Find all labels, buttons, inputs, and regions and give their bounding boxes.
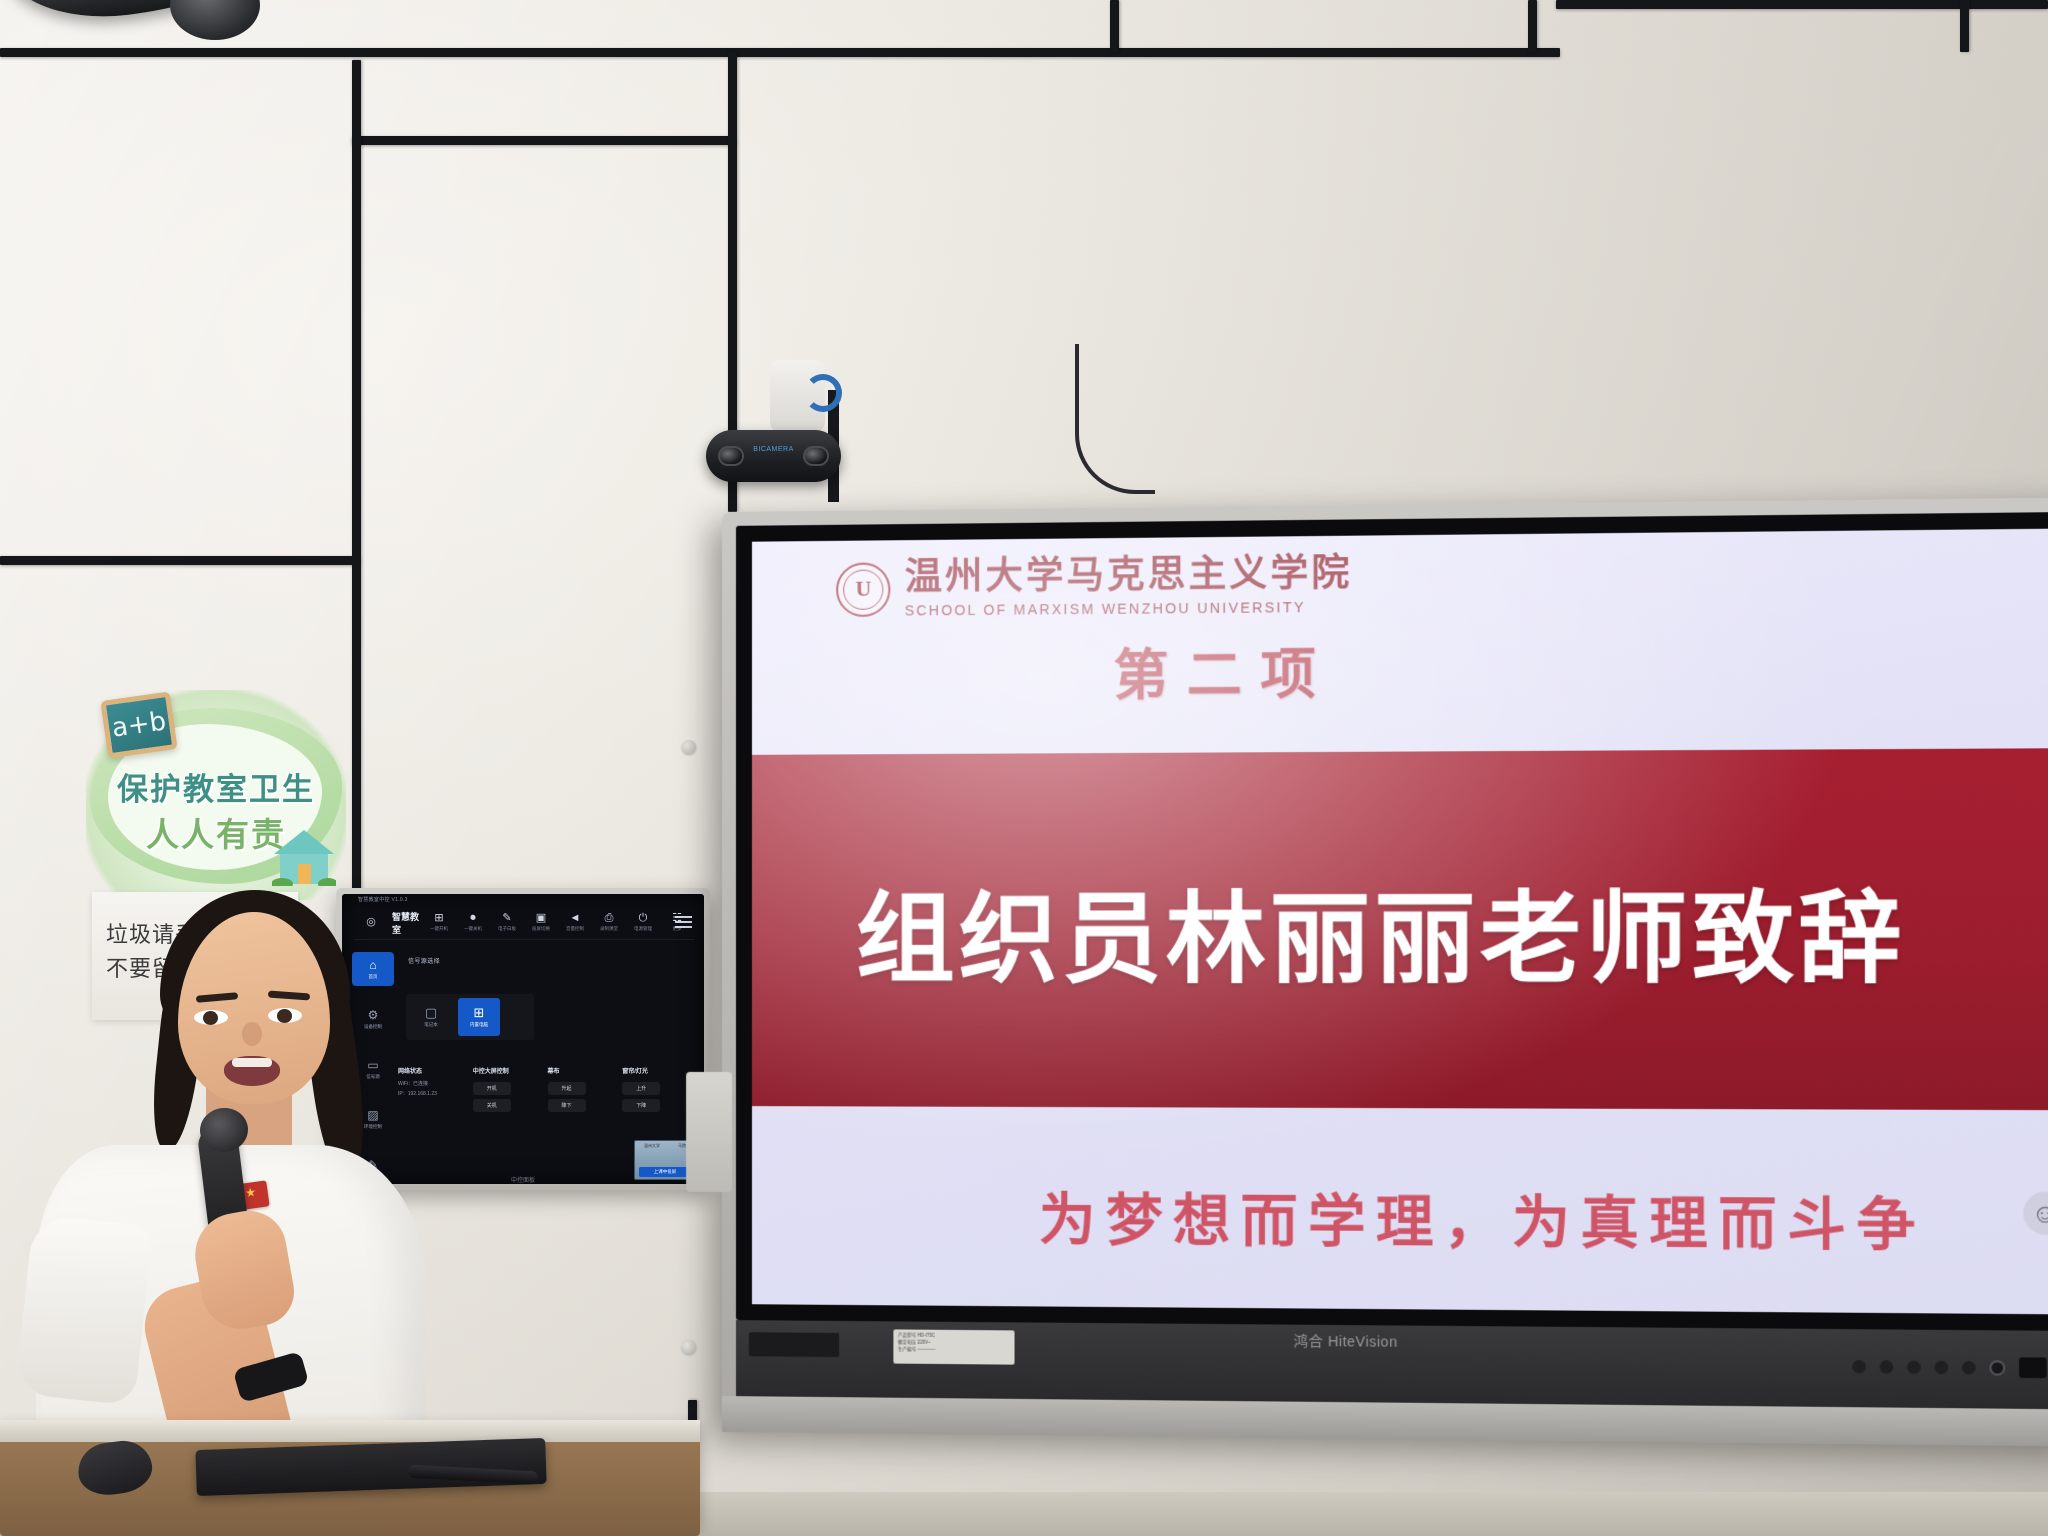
volume-icon: ◄	[570, 913, 581, 924]
windows-icon: ⊞	[474, 1006, 485, 1019]
slide-title: 组织员林丽丽老师致辞	[856, 856, 2048, 1003]
seal-letter: U	[838, 576, 888, 603]
wall-poster: a+b 保护教室卫生 人人有责	[86, 690, 346, 900]
toolbar-item-label: 电子白板	[498, 926, 516, 932]
toolbar-item[interactable]: ▣ 投屏切换	[524, 913, 558, 932]
power-off-icon: ⏺	[470, 913, 476, 924]
presentation-slide[interactable]: U 温州大学马克思主义学院 SCHOOL OF MARXISM WENZHOU …	[752, 528, 2048, 1314]
curtain-up-button[interactable]: 上升	[622, 1082, 660, 1095]
toolbar-item-label: 音量控制	[566, 926, 584, 932]
wall-batten-horizontal	[0, 48, 1560, 57]
wall-screw	[682, 740, 696, 754]
thumbnail-top-right-label: 马院	[678, 1143, 686, 1149]
screen-cast-icon: ▣	[536, 913, 546, 924]
display-power-on-button[interactable]: 开机	[473, 1082, 511, 1095]
wall-mount-bracket	[686, 1072, 732, 1192]
school-logo: U 温州大学马克思主义学院 SCHOOL OF MARXISM WENZHOU …	[836, 555, 1352, 619]
toolbar-item-label: 录制课堂	[600, 926, 618, 932]
key-menu[interactable]	[1852, 1359, 1866, 1372]
university-seal-icon: U	[836, 562, 890, 617]
power-manage-icon: ⏻	[639, 913, 648, 924]
eye-left	[194, 1010, 228, 1025]
key-volume-down[interactable]	[1907, 1360, 1921, 1373]
logo-text-block: 温州大学马克思主义学院 SCHOOL OF MARXISM WENZHOU UN…	[905, 555, 1353, 618]
tile-label: 内置电脑	[470, 1022, 488, 1028]
logo-chinese-name: 温州大学马克思主义学院	[905, 555, 1353, 598]
camera-brand-label: BICAMERA	[706, 446, 841, 453]
toolbar-item-label: 投屏切换	[532, 926, 550, 932]
chalkboard-icon: a+b	[100, 691, 177, 758]
hamburger-menu-icon[interactable]	[675, 916, 692, 928]
sticker-line-3: 生产编号 ————	[898, 1346, 1011, 1354]
slide-red-band: 组织员林丽丽老师致辞	[752, 748, 2048, 1110]
toolbar-item-label: 电源管理	[634, 926, 652, 932]
poster-line-1: 保护教室卫生	[86, 764, 346, 809]
slide-kicker-text: 第二项	[752, 624, 1896, 713]
toolbar-item-label: 一键关机	[464, 926, 482, 932]
thumbnail-top-left-label: 温州大学	[644, 1143, 660, 1149]
mouth	[224, 1056, 280, 1086]
toolbar-item[interactable]: ◄ 音量控制	[558, 913, 592, 932]
control-group-display: 中控大屏控制 开机 关机	[473, 1066, 545, 1170]
group-heading: 窗帘/灯光	[622, 1066, 694, 1075]
logo-english-name: SCHOOL OF MARXISM WENZHOU UNIVERSITY	[905, 599, 1353, 619]
ir-receiver-icon	[2019, 1357, 2047, 1378]
eye-right	[268, 1008, 302, 1023]
group-heading: 幕布	[548, 1066, 620, 1075]
slide-bottom-band: 为梦想而学理，为真理而斗争 ☺	[752, 1106, 2048, 1315]
display-bezel: U 温州大学马克思主义学院 SCHOOL OF MARXISM WENZHOU …	[736, 512, 2048, 1331]
lectern-top-surface	[0, 1420, 700, 1442]
control-group-screen: 幕布 升起 降下	[548, 1066, 620, 1170]
display-ports[interactable]	[749, 1332, 839, 1357]
slide-slogan: 为梦想而学理，为真理而斗争	[1039, 1175, 2048, 1266]
wall-batten-vertical	[1110, 0, 1119, 52]
wall-batten-horizontal	[1556, 0, 2048, 9]
curtain-down-button[interactable]: 下降	[622, 1099, 660, 1112]
display-power-off-button[interactable]: 关机	[473, 1099, 511, 1112]
record-icon: ⎙	[605, 913, 614, 924]
screen-lower-button[interactable]: 降下	[548, 1099, 586, 1112]
nose	[242, 1022, 262, 1046]
display-brand-label: 鸿合 HiteVision	[1294, 1331, 1398, 1352]
toolbar-item[interactable]: ⏺ 一键关机	[456, 913, 490, 932]
house-icon	[272, 828, 336, 886]
wall-batten-horizontal	[352, 136, 736, 145]
power-button[interactable]	[1989, 1360, 2005, 1376]
classroom-scene: a+b 保护教室卫生 人人有责 垃圾请丢 不要留在 BICAMERA 智慧教室中…	[0, 0, 2048, 1536]
toolbar-item[interactable]: ✎ 电子白板	[490, 913, 524, 932]
wall-camera: BICAMERA	[706, 430, 841, 482]
camera-mount-bracket	[770, 360, 825, 432]
toolbar-item[interactable]: ⏻ 电源管理	[626, 913, 660, 932]
sleeve-left	[15, 1214, 153, 1406]
display-control-keys[interactable]	[1852, 1356, 2046, 1378]
slide-top-band: U 温州大学马克思主义学院 SCHOOL OF MARXISM WENZHOU …	[752, 528, 2048, 755]
display-chin: 产品型号 HD-I75C 额定电压 220V~ 生产编号 ———— 鸿合 Hit…	[736, 1320, 2048, 1409]
wall-batten-vertical	[1960, 0, 1969, 52]
key-source[interactable]	[1879, 1360, 1893, 1373]
screen-raise-button[interactable]: 升起	[548, 1082, 586, 1095]
key-volume-up[interactable]	[1934, 1360, 1948, 1373]
wall-batten-vertical	[1528, 0, 1537, 52]
wall-batten-horizontal	[0, 556, 360, 565]
tile-built-in-pc[interactable]: ⊞ 内置电脑	[458, 998, 500, 1036]
toolbar-item[interactable]: ⎙ 录制课堂	[592, 913, 626, 932]
key-home[interactable]	[1962, 1360, 1976, 1374]
interactive-flat-panel[interactable]: U 温州大学马克思主义学院 SCHOOL OF MARXISM WENZHOU …	[722, 497, 2048, 1446]
wall-screw	[682, 1340, 696, 1354]
group-heading: 中控大屏控制	[473, 1066, 545, 1075]
display-spec-sticker: 产品型号 HD-I75C 额定电压 220V~ 生产编号 ————	[894, 1329, 1015, 1364]
chalkboard-text: a+b	[110, 706, 168, 743]
whiteboard-pen-icon: ✎	[502, 913, 511, 924]
